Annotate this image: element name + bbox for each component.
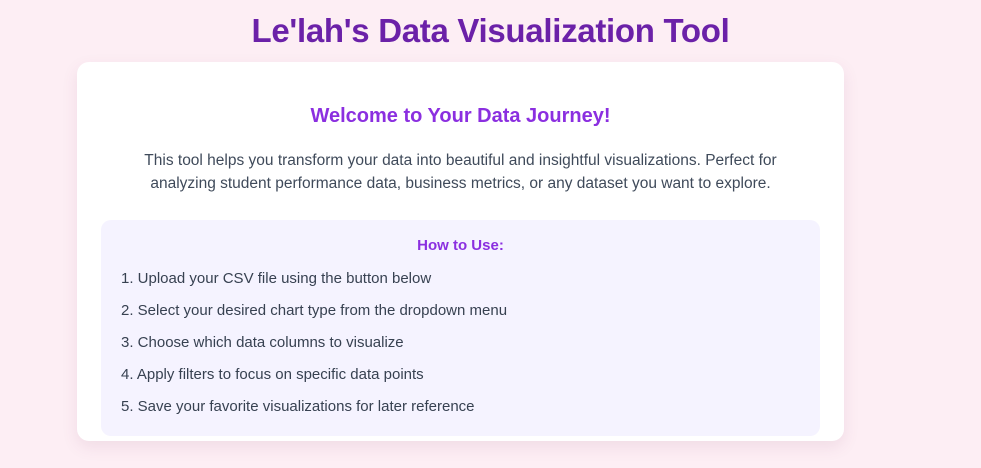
how-to-use-title: How to Use: — [121, 238, 800, 253]
intro-paragraph: This tool helps you transform your data … — [116, 149, 806, 195]
list-item: 3. Choose which data columns to visualiz… — [121, 327, 800, 359]
how-to-use-steps: 1. Upload your CSV file using the button… — [121, 263, 800, 423]
welcome-heading: Welcome to Your Data Journey! — [101, 106, 820, 126]
welcome-card: Welcome to Your Data Journey! This tool … — [77, 62, 844, 441]
list-item: 4. Apply filters to focus on specific da… — [121, 359, 800, 391]
list-item: 5. Save your favorite visualizations for… — [121, 391, 800, 423]
how-to-use-panel: How to Use: 1. Upload your CSV file usin… — [101, 220, 820, 436]
list-item: 1. Upload your CSV file using the button… — [121, 263, 800, 295]
app-root: Le'lah's Data Visualization Tool Welcome… — [0, 0, 981, 468]
list-item: 2. Select your desired chart type from t… — [121, 295, 800, 327]
page-title: Le'lah's Data Visualization Tool — [0, 0, 981, 47]
